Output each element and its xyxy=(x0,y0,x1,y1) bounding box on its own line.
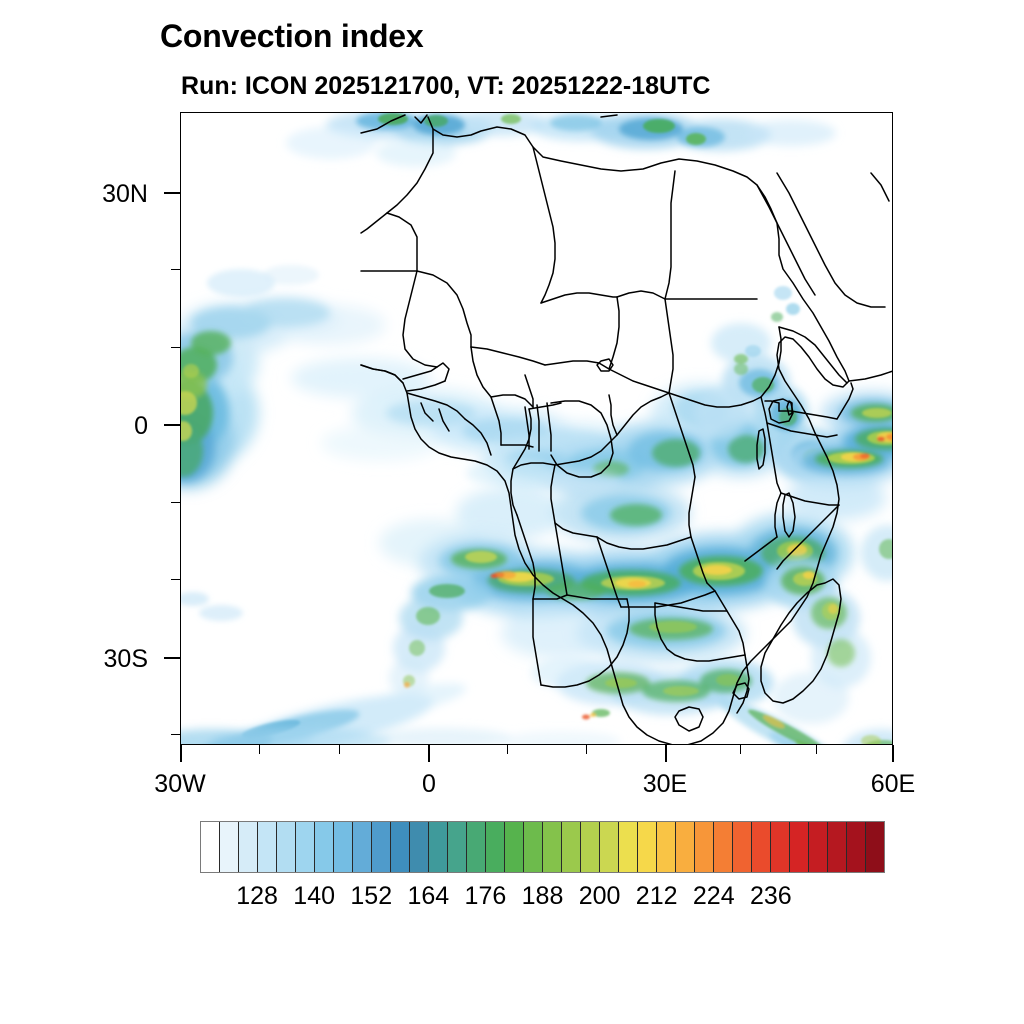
ytick-minor-10s xyxy=(171,502,180,503)
colorbar-tick-label: 224 xyxy=(693,882,735,911)
colorbar-cell xyxy=(334,822,353,872)
colorbar-cell xyxy=(543,822,562,872)
colorbar-tick-label: 236 xyxy=(750,882,792,911)
xtick-label-60e: 60E xyxy=(843,770,943,799)
convection-index-map xyxy=(181,113,893,745)
xtick-minor-40e xyxy=(740,745,741,754)
colorbar-cell xyxy=(695,822,714,872)
colorbar-cell xyxy=(201,822,220,872)
colorbar-cell xyxy=(505,822,524,872)
ytick-major-30s xyxy=(164,657,180,659)
colorbar-tick-labels: 128140152164176188200212224236 xyxy=(200,882,885,914)
colorbar-tick-label: 140 xyxy=(293,882,335,911)
ytick-minor-40s xyxy=(171,734,180,735)
map-plot-area[interactable] xyxy=(180,112,893,745)
xtick-minor-20e xyxy=(586,745,587,754)
ytick-minor-20n xyxy=(171,269,180,270)
xtick-minor-10w xyxy=(339,745,340,754)
xtick-minor-50e xyxy=(816,745,817,754)
xtick-minor-20w xyxy=(259,745,260,754)
colorbar-tick-label: 188 xyxy=(522,882,564,911)
colorbar-tick-label: 164 xyxy=(407,882,449,911)
colorbar-cell xyxy=(638,822,657,872)
colorbar-tick-label: 176 xyxy=(465,882,507,911)
figure-canvas: Convection index Run: ICON 2025121700, V… xyxy=(0,0,1024,1024)
colorbar-tick-label: 152 xyxy=(350,882,392,911)
xtick-major-60e xyxy=(892,745,894,762)
colorbar-cell xyxy=(486,822,505,872)
colorbar-cell xyxy=(277,822,296,872)
colorbar-cell xyxy=(847,822,866,872)
colorbar-cell xyxy=(448,822,467,872)
colorbar-cell xyxy=(372,822,391,872)
colorbar-cell xyxy=(790,822,809,872)
colorbar-cell xyxy=(619,822,638,872)
colorbar-cell xyxy=(296,822,315,872)
colorbar-cell xyxy=(657,822,676,872)
ytick-minor-10n xyxy=(171,347,180,348)
colorbar-cell xyxy=(315,822,334,872)
xtick-label-0: 0 xyxy=(379,770,479,799)
xtick-label-30w: 30W xyxy=(130,770,230,799)
ytick-label-30n: 30N xyxy=(60,180,148,209)
colorbar-cell xyxy=(581,822,600,872)
xtick-major-0 xyxy=(428,745,430,762)
ytick-minor-20s xyxy=(171,579,180,580)
page-subtitle: Run: ICON 2025121700, VT: 20251222-18UTC xyxy=(181,72,710,101)
page-title: Convection index xyxy=(160,18,424,55)
colorbar-cell xyxy=(429,822,448,872)
colorbar-cell xyxy=(600,822,619,872)
xtick-major-30e xyxy=(665,745,667,762)
colorbar-cell xyxy=(714,822,733,872)
colorbar-cells[interactable] xyxy=(200,821,885,873)
colorbar-cell xyxy=(809,822,828,872)
ytick-label-0: 0 xyxy=(60,412,148,441)
colorbar-cell xyxy=(220,822,239,872)
colorbar-cell xyxy=(771,822,790,872)
colorbar-cell xyxy=(391,822,410,872)
colorbar[interactable] xyxy=(200,821,885,873)
colorbar-cell xyxy=(353,822,372,872)
xtick-label-30e: 30E xyxy=(615,770,715,799)
colorbar-cell xyxy=(828,822,847,872)
ytick-major-0 xyxy=(164,424,180,426)
colorbar-cell xyxy=(467,822,486,872)
colorbar-cell xyxy=(866,822,884,872)
colorbar-cell xyxy=(524,822,543,872)
colorbar-cell xyxy=(733,822,752,872)
xtick-major-30w xyxy=(180,745,182,762)
colorbar-cell xyxy=(258,822,277,872)
colorbar-tick-label: 212 xyxy=(636,882,678,911)
xtick-minor-10e xyxy=(507,745,508,754)
ytick-label-30s: 30S xyxy=(60,645,148,674)
colorbar-tick-label: 128 xyxy=(236,882,278,911)
colorbar-cell xyxy=(562,822,581,872)
colorbar-cell xyxy=(239,822,258,872)
colorbar-cell xyxy=(410,822,429,872)
ytick-major-30n xyxy=(164,192,180,194)
colorbar-cell xyxy=(752,822,771,872)
colorbar-cell xyxy=(676,822,695,872)
colorbar-tick-label: 200 xyxy=(579,882,621,911)
